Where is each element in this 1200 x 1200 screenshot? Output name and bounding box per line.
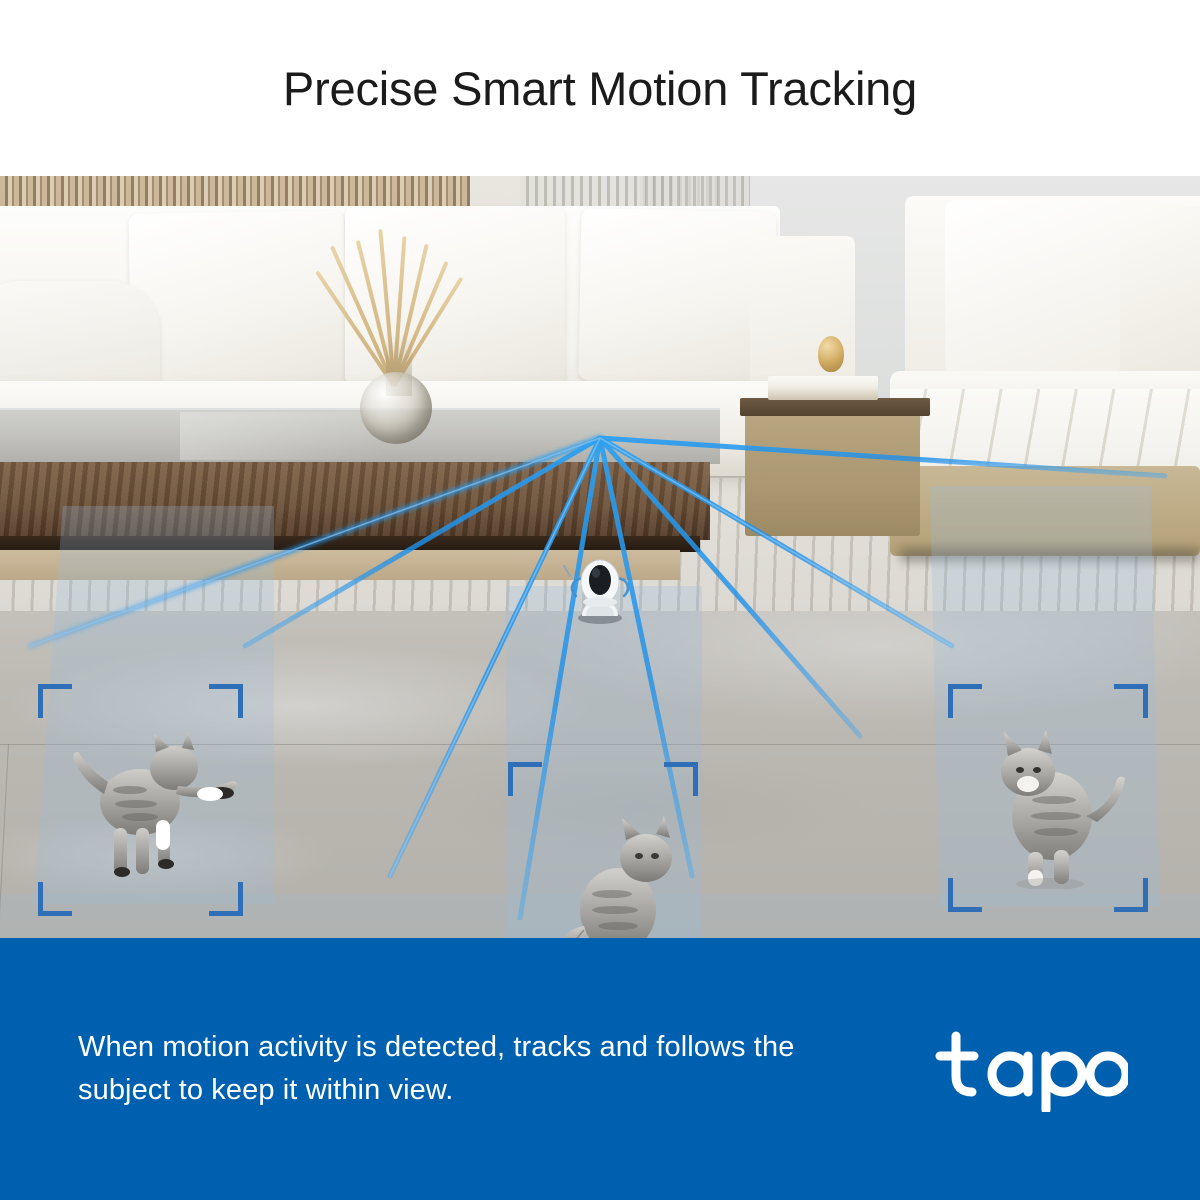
footer-banner: When motion activity is detected, tracks… (0, 938, 1200, 1200)
header-bar: Precise Smart Motion Tracking (0, 0, 1200, 176)
banner-caption: When motion activity is detected, tracks… (78, 1026, 838, 1113)
detection-bracket-center (508, 762, 698, 938)
bracket-corner-bl (948, 878, 982, 912)
bracket-corner-br (209, 882, 243, 916)
bracket-corner-br (1114, 878, 1148, 912)
bracket-corner-tl (948, 684, 982, 718)
tapo-logo: tapo (928, 1026, 1128, 1112)
bracket-corner-tl (38, 684, 72, 718)
detection-bracket-right (948, 684, 1148, 912)
page-title: Precise Smart Motion Tracking (283, 61, 917, 116)
bracket-corner-tr (209, 684, 243, 718)
detection-bracket-left (38, 684, 243, 916)
bracket-corner-bl (38, 882, 72, 916)
security-camera (560, 546, 640, 626)
promo-page: Precise Smart Motion Tracking Living roo… (0, 0, 1200, 1200)
bracket-corner-tr (664, 762, 698, 796)
scene-photo: Living room with a white pan-tilt securi… (0, 176, 1200, 938)
bracket-corner-tr (1114, 684, 1148, 718)
bracket-corner-tl (508, 762, 542, 796)
